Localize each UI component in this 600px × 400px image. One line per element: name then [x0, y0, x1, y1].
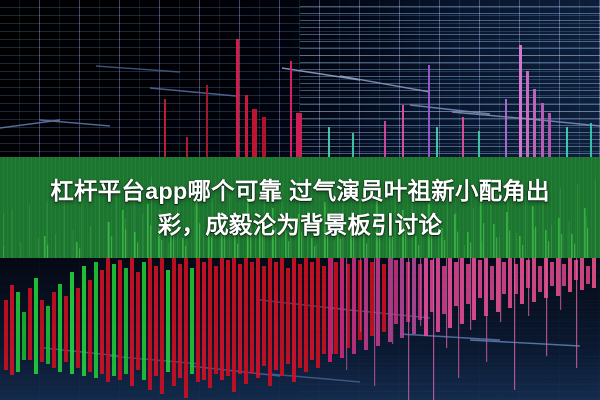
screenshot-root: 杠杆平台app哪个可靠 过气演员叶祖新小配角出 彩，成毅沦为背景板引讨论: [0, 0, 600, 400]
headline-text-block: 杠杆平台app哪个可靠 过气演员叶祖新小配角出 彩，成毅沦为背景板引讨论: [0, 157, 600, 258]
headline-line-1: 杠杆平台app哪个可靠 过气演员叶祖新小配角出: [50, 174, 549, 208]
headline-line-2: 彩，成毅沦为背景板引讨论: [158, 208, 442, 242]
